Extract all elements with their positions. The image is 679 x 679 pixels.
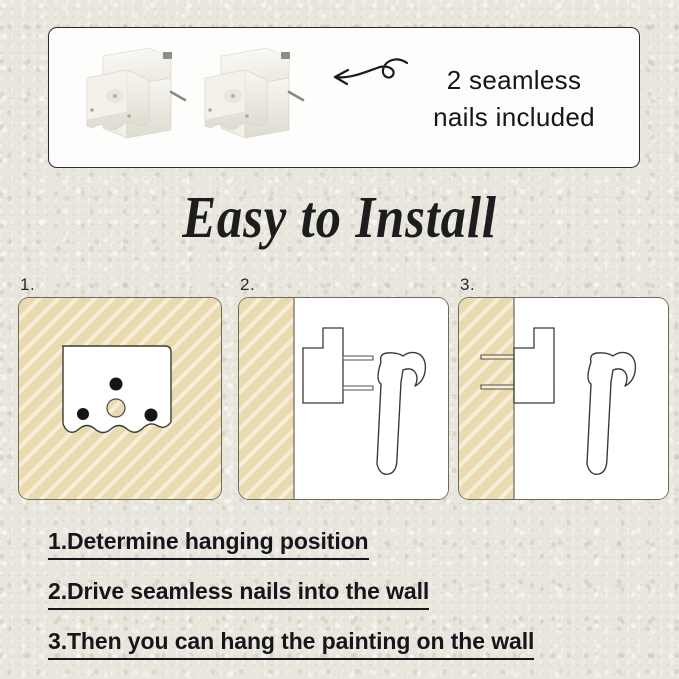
step-1-diagram xyxy=(18,297,222,500)
nails-caption-line2: nails included xyxy=(433,99,595,136)
page-title: Easy to Install xyxy=(48,186,632,248)
mount-dot-right xyxy=(145,409,158,422)
instruction-text-2: 2.Drive seamless nails into the wall xyxy=(48,578,429,610)
nail-upper xyxy=(343,356,373,360)
center-hole xyxy=(107,399,125,417)
instruction-line-1: 1.Determine hanging position xyxy=(48,528,369,560)
nail-upper-inserted xyxy=(481,355,514,359)
instruction-text-3: 3.Then you can hang the painting on the … xyxy=(48,628,534,660)
hatched-wall-left xyxy=(459,298,514,500)
bracket-front-view xyxy=(19,298,222,500)
nail-bracket-right xyxy=(205,48,303,138)
instruction-line-3: 3.Then you can hang the painting on the … xyxy=(48,628,534,660)
step-number-1: 1. xyxy=(20,275,35,295)
nails-caption: 2 seamless nails included xyxy=(394,58,634,140)
nails-caption-line1: 2 seamless xyxy=(447,62,582,99)
instruction-text-1: 1.Determine hanging position xyxy=(48,528,369,560)
mount-dot-left xyxy=(77,408,89,420)
hatched-wall-left xyxy=(239,298,294,500)
instruction-line-2: 2.Drive seamless nails into the wall xyxy=(48,578,429,610)
nail-lower-inserted xyxy=(481,385,514,389)
nails-before-driving xyxy=(239,298,449,500)
nail-bracket-left xyxy=(87,48,185,138)
step-number-3: 3. xyxy=(460,275,475,295)
nails-driven-in xyxy=(459,298,669,500)
nail-lower xyxy=(343,386,373,390)
step-number-2: 2. xyxy=(240,275,255,295)
seamless-nails-card: 2 seamless nails included xyxy=(48,27,640,168)
step-3-diagram xyxy=(458,297,669,500)
mount-dot-top xyxy=(110,378,123,391)
step-2-diagram xyxy=(238,297,449,500)
